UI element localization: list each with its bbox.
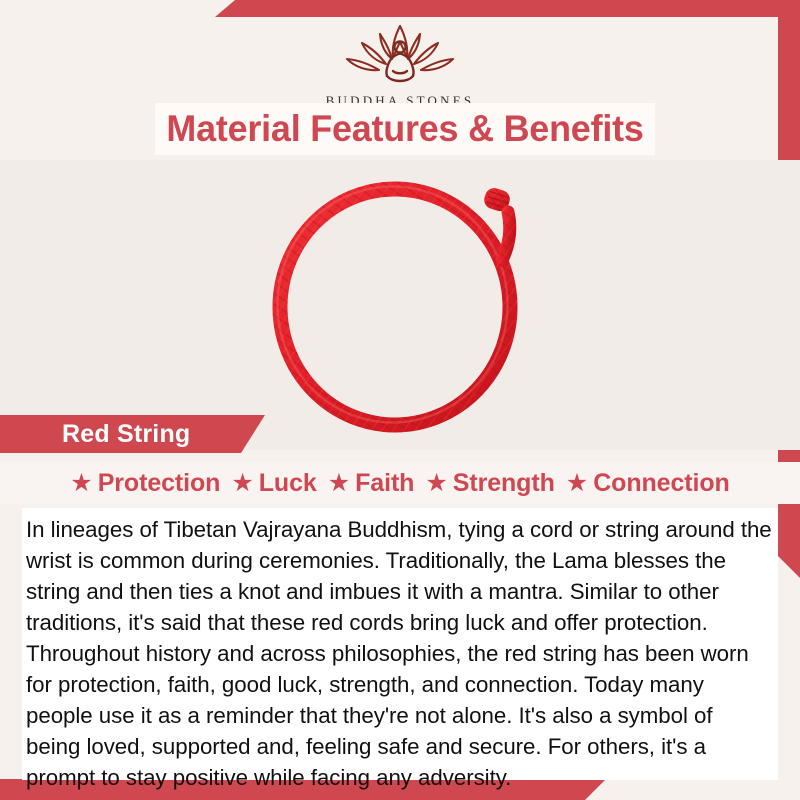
benefit-label: Strength	[453, 469, 555, 498]
benefit-item-luck: ★ Luck	[231, 469, 316, 498]
benefit-label: Protection	[98, 469, 221, 498]
product-photo	[0, 160, 800, 450]
benefit-item-connection: ★ Connection	[566, 469, 730, 498]
star-icon: ★	[70, 471, 92, 496]
benefits-list: ★ Protection ★ Luck ★ Faith ★ Strength ★…	[0, 462, 800, 504]
benefit-label: Faith	[355, 469, 414, 498]
star-icon: ★	[231, 471, 253, 496]
lotus-meditation-icon	[324, 21, 476, 92]
description-panel: In lineages of Tibetan Vajrayana Buddhis…	[22, 508, 778, 780]
benefit-item-faith: ★ Faith	[328, 469, 415, 498]
description-text: In lineages of Tibetan Vajrayana Buddhis…	[26, 514, 772, 793]
red-braided-string-bracelet-image	[250, 172, 550, 447]
benefit-label: Connection	[593, 469, 730, 498]
title-banner: Material Features & Benefits	[155, 103, 655, 155]
benefit-item-protection: ★ Protection	[70, 469, 220, 498]
star-icon: ★	[566, 471, 588, 496]
star-icon: ★	[425, 471, 447, 496]
product-name-ribbon: Red String	[0, 415, 265, 453]
product-name-label: Red String	[62, 420, 190, 449]
brand-header: BUDDHA STONES	[0, 17, 800, 103]
benefit-label: Luck	[259, 469, 317, 498]
page-title: Material Features & Benefits	[166, 108, 643, 150]
star-icon: ★	[328, 471, 350, 496]
benefit-item-strength: ★ Strength	[425, 469, 554, 498]
infographic-page: BUDDHA STONES Material Features & Benefi…	[0, 0, 800, 800]
decorative-top-band	[215, 0, 800, 17]
